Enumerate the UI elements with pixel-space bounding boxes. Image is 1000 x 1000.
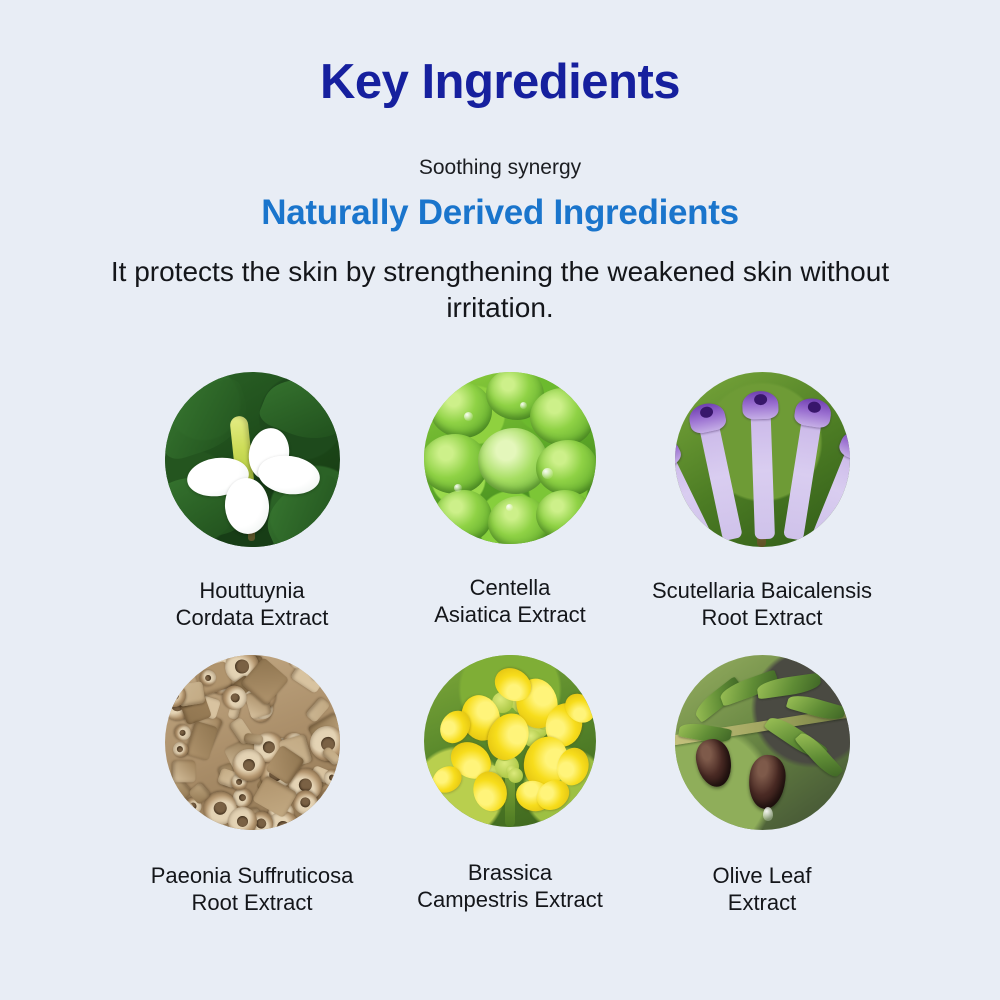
olive-leaf-photo — [675, 655, 850, 830]
brassica-campestris-photo — [424, 655, 596, 827]
ingredient-card-brassica[interactable]: Brassica Campestris Extract — [381, 655, 639, 913]
ingredient-label: Brassica Campestris Extract — [417, 859, 603, 913]
ingredient-card-centella[interactable]: Centella Asiatica Extract — [381, 372, 639, 628]
eyebrow-text: Soothing synergy — [0, 155, 1000, 180]
houttuynia-cordata-photo — [165, 372, 340, 547]
ingredient-card-paeonia[interactable]: Paeonia Suffruticosa Root Extract — [123, 655, 381, 916]
section-description: It protects the skin by strengthening th… — [0, 254, 1000, 326]
ingredient-label: Houttuynia Cordata Extract — [176, 577, 329, 631]
ingredient-label: Scutellaria Baicalensis Root Extract — [652, 577, 872, 631]
ingredient-card-olive[interactable]: Olive Leaf Extract — [633, 655, 891, 916]
page-header: Key Ingredients Soothing synergy Natural… — [0, 0, 1000, 326]
centella-asiatica-photo — [424, 372, 596, 544]
ingredient-card-scutellaria[interactable]: Scutellaria Baicalensis Root Extract — [633, 372, 891, 631]
ingredient-row-2: Paeonia Suffruticosa Root Extract Brassi… — [0, 655, 1000, 916]
ingredient-label: Paeonia Suffruticosa Root Extract — [151, 862, 354, 916]
section-subtitle: Naturally Derived Ingredients — [0, 193, 1000, 232]
ingredient-card-houttuynia[interactable]: Houttuynia Cordata Extract — [123, 372, 381, 631]
paeonia-suffruticosa-photo — [165, 655, 340, 830]
key-ingredients-page: Key Ingredients Soothing synergy Natural… — [0, 0, 1000, 1000]
ingredient-grid: Houttuynia Cordata Extract Centella Asia… — [0, 372, 1000, 916]
scutellaria-baicalensis-photo — [675, 372, 850, 547]
page-title: Key Ingredients — [0, 56, 1000, 109]
ingredient-row-1: Houttuynia Cordata Extract Centella Asia… — [0, 372, 1000, 631]
ingredient-label: Olive Leaf Extract — [712, 862, 811, 916]
ingredient-label: Centella Asiatica Extract — [434, 574, 586, 628]
